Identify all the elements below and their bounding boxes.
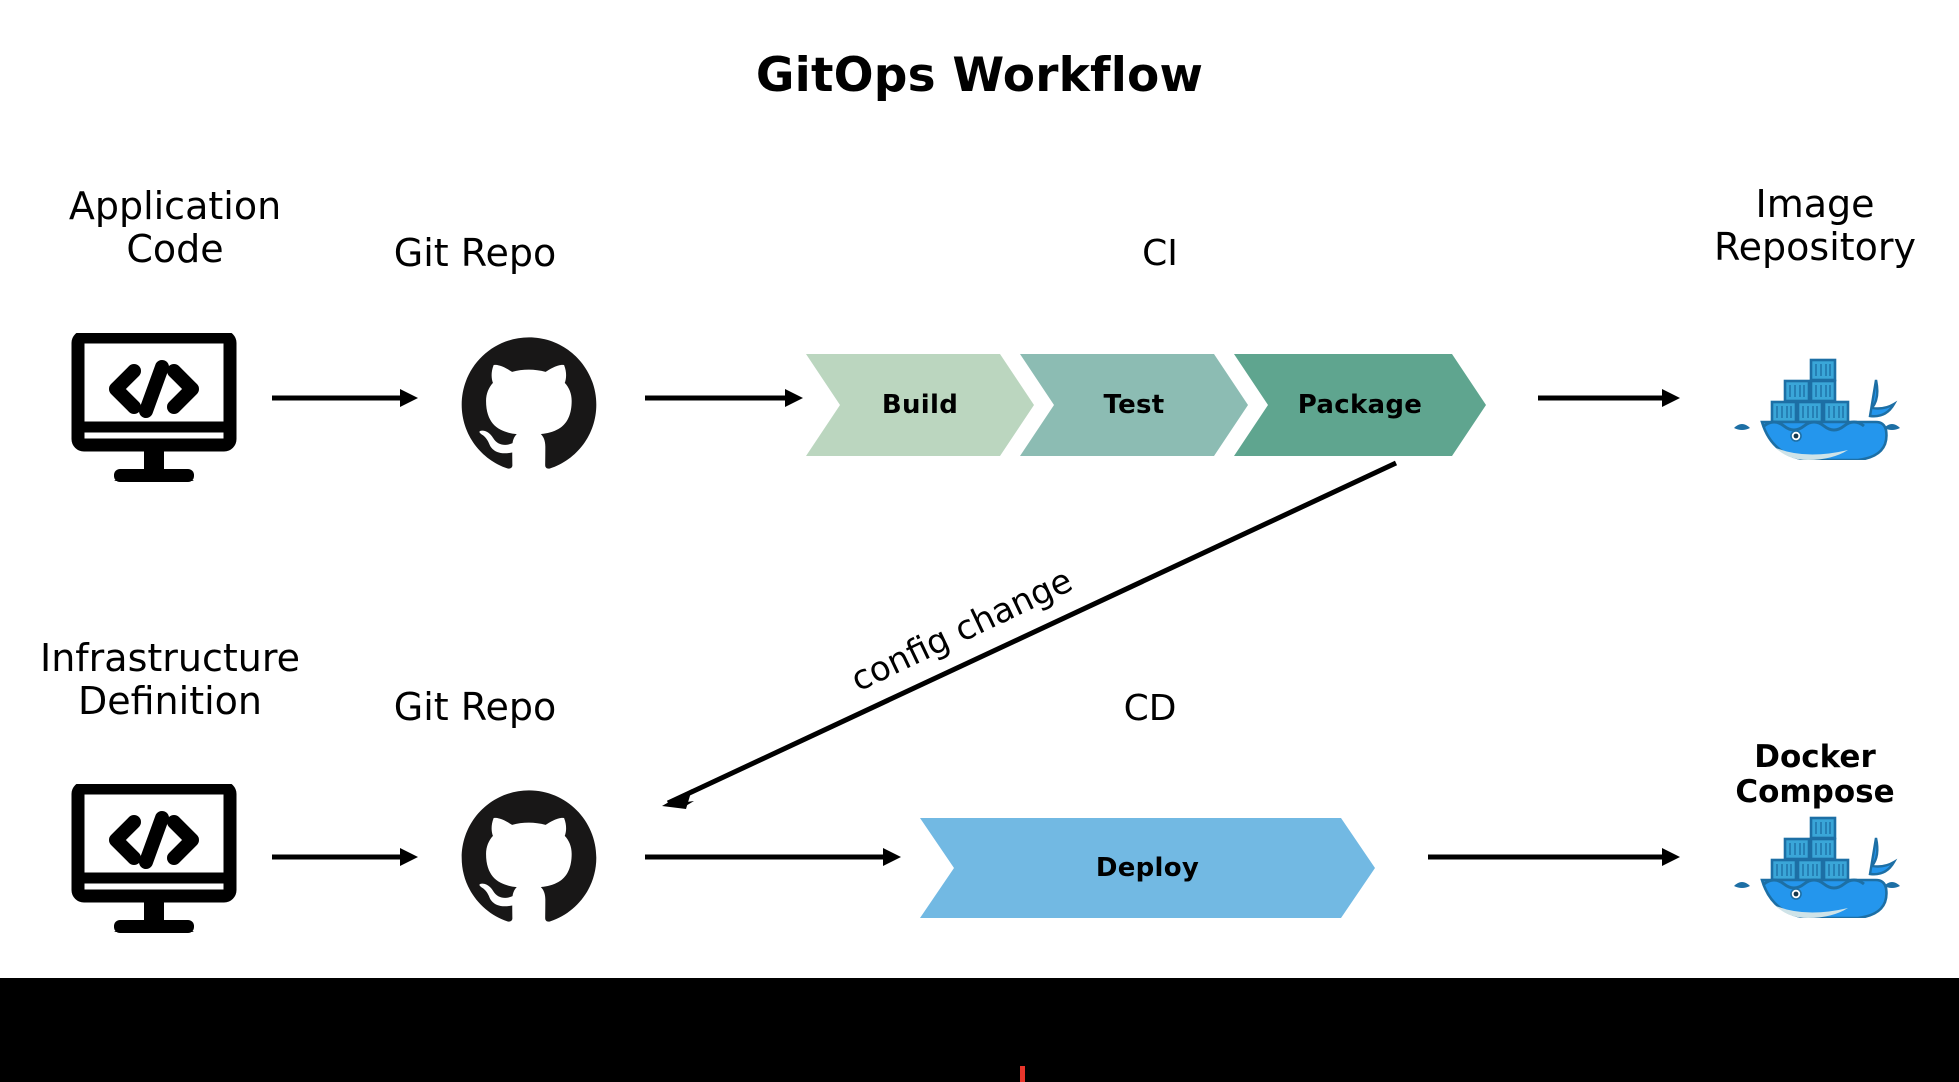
ci-pipeline: Build Test Package: [806, 354, 1486, 456]
arrow-repo-to-ci: [645, 386, 805, 410]
code-monitor-icon: [70, 784, 238, 934]
arrow-repo-to-cd: [645, 845, 903, 869]
label-docker-compose: Docker Compose: [1670, 740, 1959, 809]
docker-whale-icon: [1728, 806, 1906, 918]
page-title: GitOps Workflow: [0, 48, 1959, 103]
arrow-config-change-feedback: [640, 455, 1400, 815]
label-cd: CD: [1000, 688, 1300, 729]
github-octocat-icon: [460, 336, 598, 474]
cd-pipeline: Deploy: [920, 818, 1375, 918]
ci-stage-build[interactable]: Build: [806, 354, 1034, 456]
github-octocat-icon: [460, 789, 598, 927]
label-application-code: Application Code: [40, 185, 310, 270]
docker-whale-icon: [1728, 348, 1906, 460]
diagram-canvas: GitOps Workflow Application Code Git Rep…: [0, 0, 1959, 1082]
cd-stage-deploy-label: Deploy: [1096, 853, 1199, 883]
label-infrastructure-definition: Infrastructure Definition: [20, 637, 320, 722]
ci-stage-test-label: Test: [1103, 390, 1164, 420]
arrow-infra-to-repo-cd: [272, 845, 420, 869]
arrow-cd-to-docker-compose: [1428, 845, 1682, 869]
label-git-repo-cd: Git Repo: [330, 686, 620, 729]
cd-stage-deploy[interactable]: Deploy: [920, 818, 1375, 918]
arrow-ci-to-registry: [1538, 386, 1682, 410]
code-monitor-icon: [70, 333, 238, 483]
ci-stage-test[interactable]: Test: [1020, 354, 1248, 456]
red-cursor-mark: [1020, 1066, 1025, 1082]
label-ci: CI: [1010, 233, 1310, 274]
label-image-repository: Image Repository: [1680, 183, 1950, 268]
label-git-repo-ci: Git Repo: [330, 232, 620, 275]
ci-stage-package-label: Package: [1298, 390, 1423, 420]
bottom-black-bar: [0, 978, 1959, 1082]
ci-stage-build-label: Build: [882, 390, 958, 420]
arrow-code-to-repo-ci: [272, 386, 420, 410]
ci-stage-package[interactable]: Package: [1234, 354, 1486, 456]
